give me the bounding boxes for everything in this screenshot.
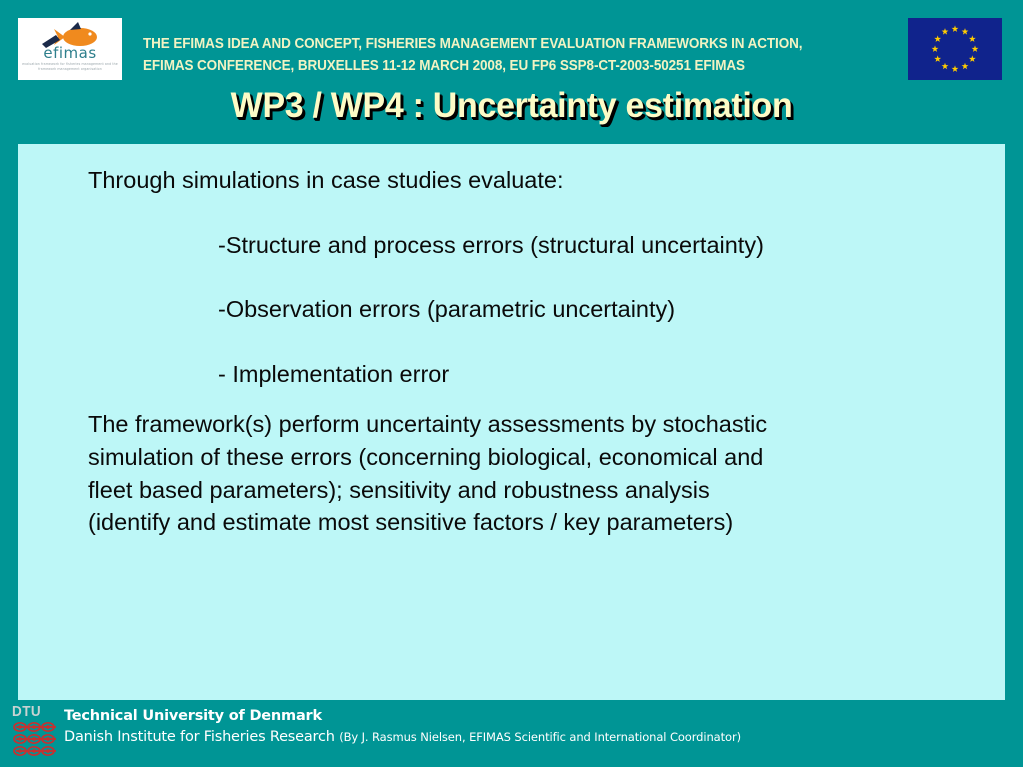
- paragraph-line: The framework(s) perform uncertainty ass…: [88, 408, 988, 441]
- spacer: [88, 326, 988, 358]
- efimas-logo: efimas evaluation framework for fisherie…: [18, 18, 122, 80]
- presentation-slide: efimas evaluation framework for fisherie…: [0, 0, 1023, 767]
- spacer: [88, 261, 988, 293]
- dtu-logo: DTU: [12, 704, 60, 760]
- content-panel: Through simulations in case studies eval…: [18, 144, 1005, 700]
- dtu-wordmark: DTU: [12, 704, 55, 719]
- efimas-wordmark: efimas: [18, 45, 122, 61]
- paragraph-line: simulation of these errors (concerning b…: [88, 441, 988, 474]
- page-title-text: WP3 / WP4 : Uncertainty estimation: [231, 86, 793, 126]
- bullet-item-structure: -Structure and process errors (structura…: [218, 229, 988, 262]
- page-title: WP3 / WP4 : Uncertainty estimation: [0, 86, 1023, 126]
- footer-credit: (By J. Rasmus Nielsen, EFIMAS Scientific…: [339, 730, 741, 744]
- body-intro-line: Through simulations in case studies eval…: [88, 164, 988, 197]
- footer-department: Danish Institute for Fisheries Research: [64, 729, 335, 745]
- conference-heading: THE EFIMAS IDEA AND CONCEPT, FISHERIES M…: [143, 33, 903, 77]
- paragraph-line: fleet based parameters); sensitivity and…: [88, 474, 988, 507]
- european-union-flag-icon: [908, 18, 1002, 80]
- footer-department-line: Danish Institute for Fisheries Research …: [64, 726, 741, 748]
- spacer: [88, 197, 988, 229]
- dtu-atom-icon: [12, 721, 60, 759]
- slide-body: Through simulations in case studies eval…: [88, 164, 988, 539]
- conference-line-2: EFIMAS CONFERENCE, BRUXELLES 11-12 MARCH…: [143, 55, 850, 77]
- slide-header: efimas evaluation framework for fisherie…: [0, 0, 1023, 140]
- bullet-item-observation: -Observation errors (parametric uncertai…: [218, 293, 988, 326]
- footer-institution: Technical University of Denmark: [64, 706, 741, 726]
- bullet-item-implementation: - Implementation error: [218, 358, 988, 391]
- efimas-tagline: evaluation framework for fisheries manag…: [18, 62, 122, 71]
- summary-paragraph: The framework(s) perform uncertainty ass…: [88, 408, 988, 538]
- paragraph-line: (identify and estimate most sensitive fa…: [88, 506, 988, 539]
- conference-line-1: THE EFIMAS IDEA AND CONCEPT, FISHERIES M…: [143, 33, 850, 55]
- footer-text-block: Technical University of Denmark Danish I…: [64, 706, 741, 748]
- slide-footer: DTU Technical University of Denmark Dani…: [0, 700, 1023, 767]
